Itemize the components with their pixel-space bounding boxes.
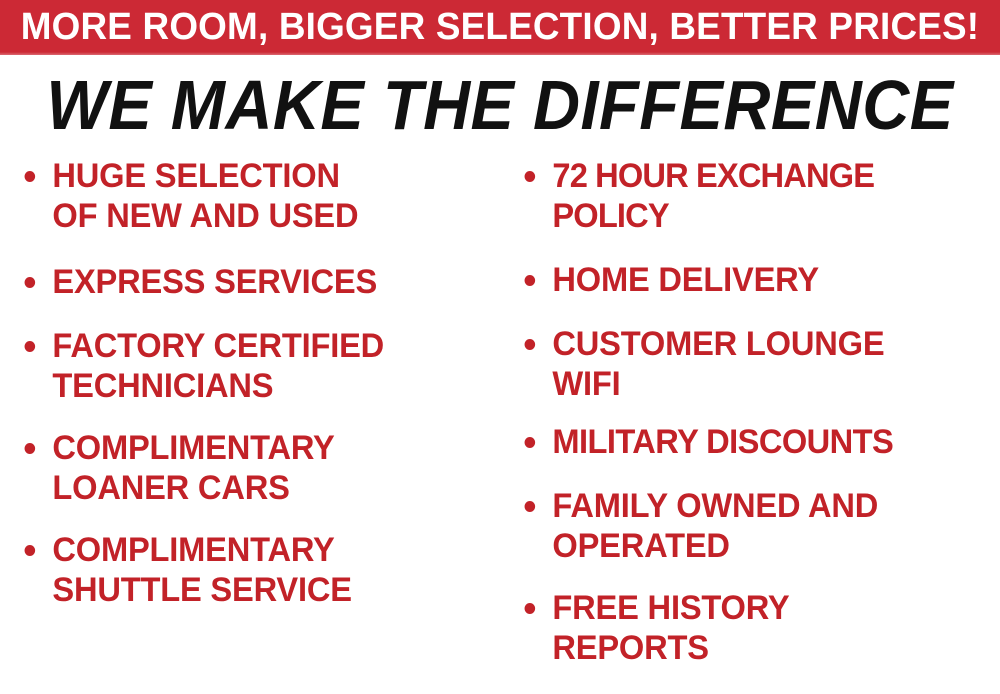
- list-item-label: MILITARY DISCOUNTS: [552, 422, 980, 462]
- list-item-label: EXPRESS SERVICES: [52, 262, 480, 302]
- bullet-dot-icon: [25, 443, 36, 454]
- list-item: EXPRESS SERVICES: [14, 262, 481, 302]
- bullet-dot-icon: [525, 501, 536, 512]
- bullet-dot-icon: [25, 545, 36, 556]
- list-item: COMPLIMENTARY SHUTTLE SERVICE: [14, 530, 481, 610]
- benefit-list-left: HUGE SELECTION OF NEW AND USED EXPRESS S…: [14, 156, 500, 610]
- list-item-label: COMPLIMENTARY SHUTTLE SERVICE: [52, 530, 480, 610]
- bullet-dot-icon: [525, 603, 536, 614]
- list-item: FACTORY CERTIFIED TECHNICIANS: [14, 326, 481, 406]
- bullet-dot-icon: [25, 171, 36, 182]
- list-item-label: HUGE SELECTION OF NEW AND USED: [52, 156, 480, 236]
- list-item: FREE HISTORY REPORTS: [514, 588, 981, 668]
- list-item: HOME DELIVERY: [514, 260, 981, 300]
- list-item: 72 HOUR EXCHANGE POLICY: [514, 156, 981, 236]
- list-item-label: HOME DELIVERY: [552, 260, 980, 300]
- banner-headline: MORE ROOM, BIGGER SELECTION, BETTER PRIC…: [15, 7, 985, 47]
- list-item-label: FAMILY OWNED AND OPERATED: [552, 486, 980, 566]
- list-item: CUSTOMER LOUNGE WIFI: [514, 324, 981, 404]
- list-item: HUGE SELECTION OF NEW AND USED: [14, 156, 481, 236]
- list-item: FAMILY OWNED AND OPERATED: [514, 486, 981, 566]
- benefits-column-right: 72 HOUR EXCHANGE POLICY HOME DELIVERY CU…: [514, 156, 1000, 686]
- bullet-dot-icon: [525, 339, 536, 350]
- page-title: WE MAKE THE DIFFERENCE: [35, 70, 965, 140]
- list-item: COMPLIMENTARY LOANER CARS: [14, 428, 481, 508]
- benefit-list-right: 72 HOUR EXCHANGE POLICY HOME DELIVERY CU…: [514, 156, 1000, 668]
- list-item-label: COMPLIMENTARY LOANER CARS: [52, 428, 480, 508]
- list-item: MILITARY DISCOUNTS: [514, 422, 981, 462]
- list-item-label: CUSTOMER LOUNGE WIFI: [552, 324, 980, 404]
- bullet-dot-icon: [25, 277, 36, 288]
- bullet-dot-icon: [25, 341, 36, 352]
- bullet-dot-icon: [525, 275, 536, 286]
- list-item-label: FREE HISTORY REPORTS: [552, 588, 980, 668]
- list-item-label: 72 HOUR EXCHANGE POLICY: [552, 156, 980, 236]
- benefits-columns: HUGE SELECTION OF NEW AND USED EXPRESS S…: [0, 156, 1000, 694]
- benefits-column-left: HUGE SELECTION OF NEW AND USED EXPRESS S…: [14, 156, 500, 628]
- bullet-dot-icon: [525, 437, 536, 448]
- bullet-dot-icon: [525, 171, 536, 182]
- top-banner: MORE ROOM, BIGGER SELECTION, BETTER PRIC…: [0, 0, 1000, 55]
- list-item-label: FACTORY CERTIFIED TECHNICIANS: [52, 326, 480, 406]
- promo-poster: MORE ROOM, BIGGER SELECTION, BETTER PRIC…: [0, 0, 1000, 694]
